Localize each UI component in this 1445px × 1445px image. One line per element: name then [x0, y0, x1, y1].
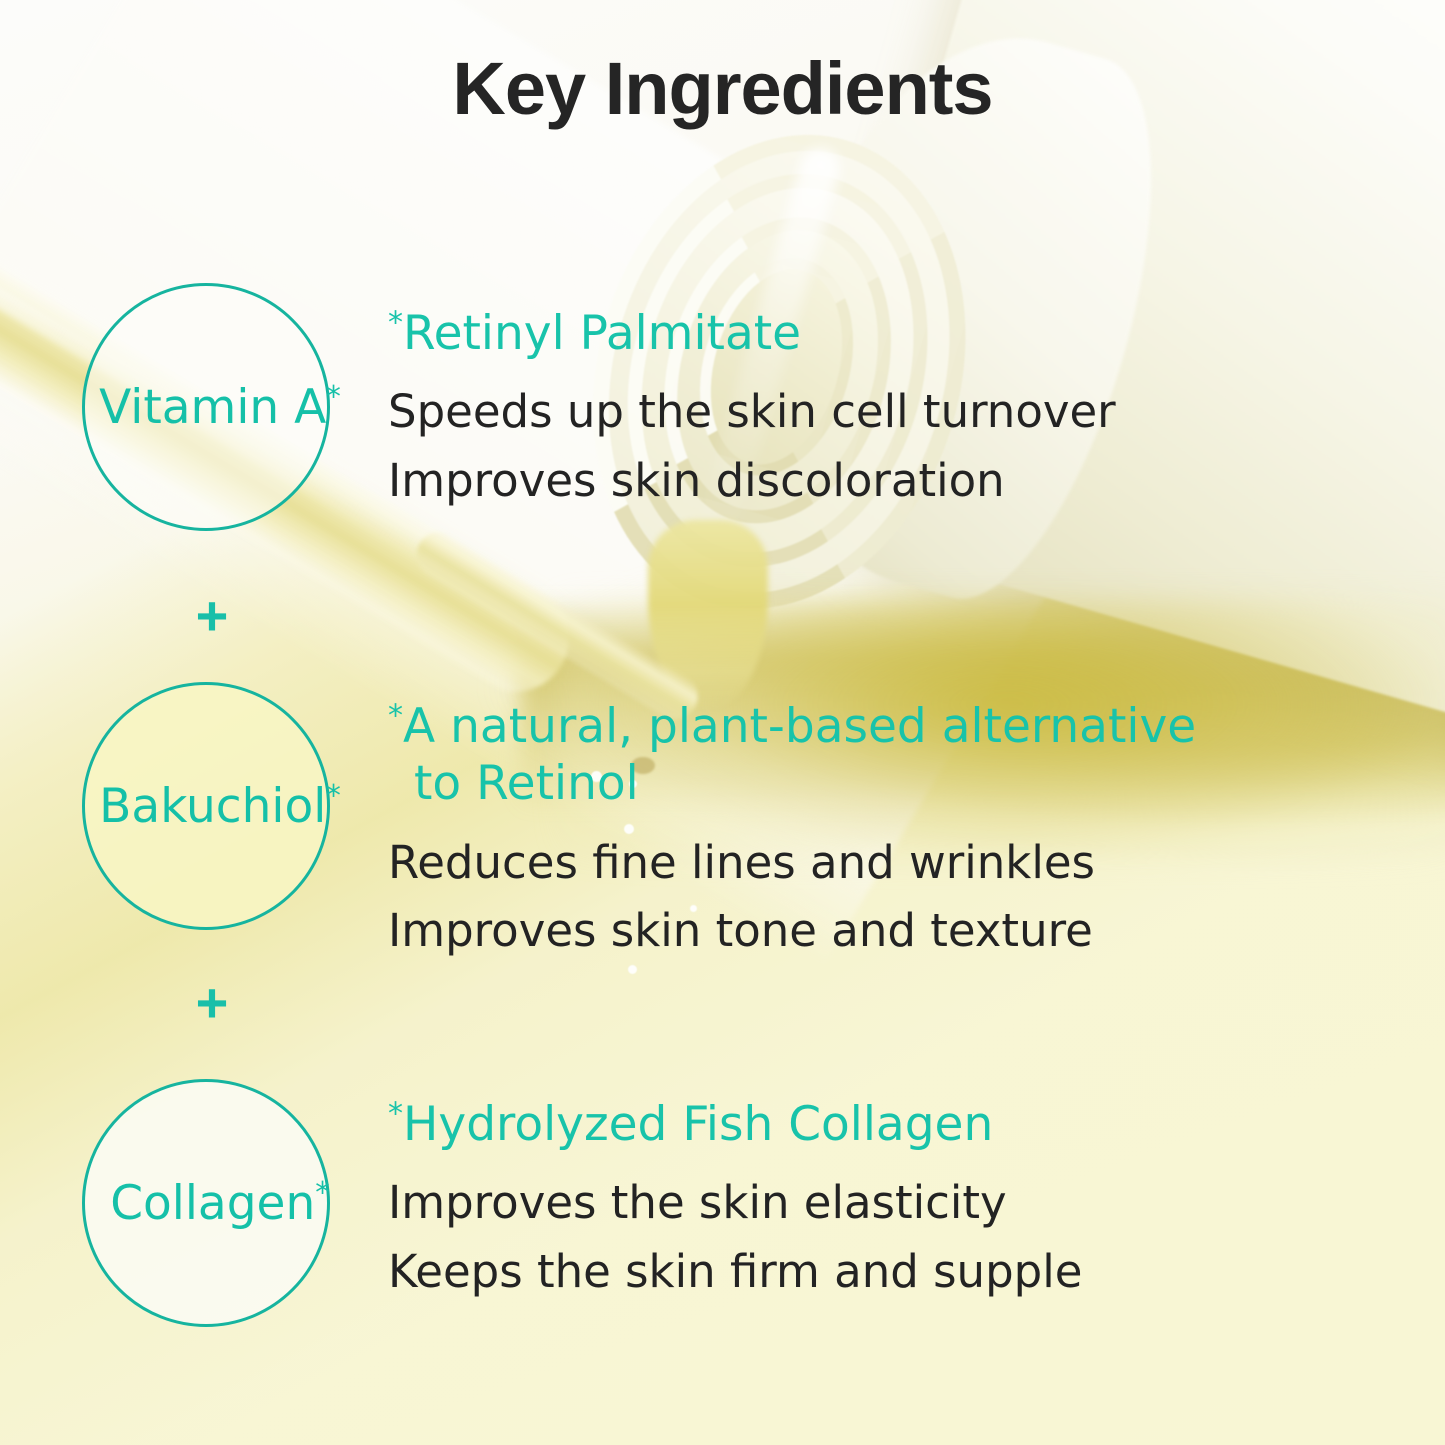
ingredient-benefit-line: Keeps the skin firm and supple [388, 1238, 1405, 1306]
ingredient-benefit-line: Improves skin discoloration [388, 447, 1405, 515]
badge-label: Vitamin A* [99, 384, 341, 431]
ingredient-heading: *Hydrolyzed Fish Collagen [388, 1096, 1405, 1153]
ingredient-benefit-line: Improves skin tone and texture [388, 897, 1405, 965]
ingredient-heading: *Retinyl Palmitate [388, 305, 1405, 362]
plus-icon: + [178, 588, 246, 644]
ingredient-block-collagen: *Hydrolyzed Fish Collagen Improves the s… [388, 1096, 1405, 1306]
page-title: Key Ingredients [0, 46, 1445, 131]
asterisk-marker: * [388, 305, 403, 340]
ingredient-badge-collagen[interactable]: Collagen* [82, 1079, 330, 1327]
ingredient-heading-continuation: to Retinol [388, 755, 1405, 812]
asterisk-marker: * [388, 1096, 403, 1131]
ingredient-benefit-line: Reduces fine lines and wrinkles [388, 829, 1405, 897]
ingredient-badge-bakuchiol[interactable]: Bakuchiol* [82, 682, 330, 930]
badge-label: Bakuchiol* [99, 783, 341, 830]
asterisk-marker: * [326, 778, 341, 812]
plus-icon: + [178, 975, 246, 1031]
asterisk-marker: * [326, 379, 341, 413]
ingredient-benefit-line: Speeds up the skin cell turnover [388, 378, 1405, 446]
ingredient-badge-vitamin-a[interactable]: Vitamin A* [82, 283, 330, 531]
asterisk-marker: * [388, 698, 403, 733]
ingredient-benefit-line: Improves the skin elasticity [388, 1169, 1405, 1237]
oil-droplet [628, 965, 637, 974]
ingredient-block-retinyl-palmitate: *Retinyl Palmitate Speeds up the skin ce… [388, 305, 1405, 515]
ingredient-heading: *A natural, plant-based alternativeto Re… [388, 698, 1405, 813]
asterisk-marker: * [315, 1175, 330, 1209]
ingredient-block-bakuchiol: *A natural, plant-based alternativeto Re… [388, 698, 1405, 965]
key-ingredients-infographic: Key Ingredients Vitamin A* Bakuchiol* Co… [0, 0, 1445, 1445]
badge-label: Collagen* [110, 1180, 330, 1227]
